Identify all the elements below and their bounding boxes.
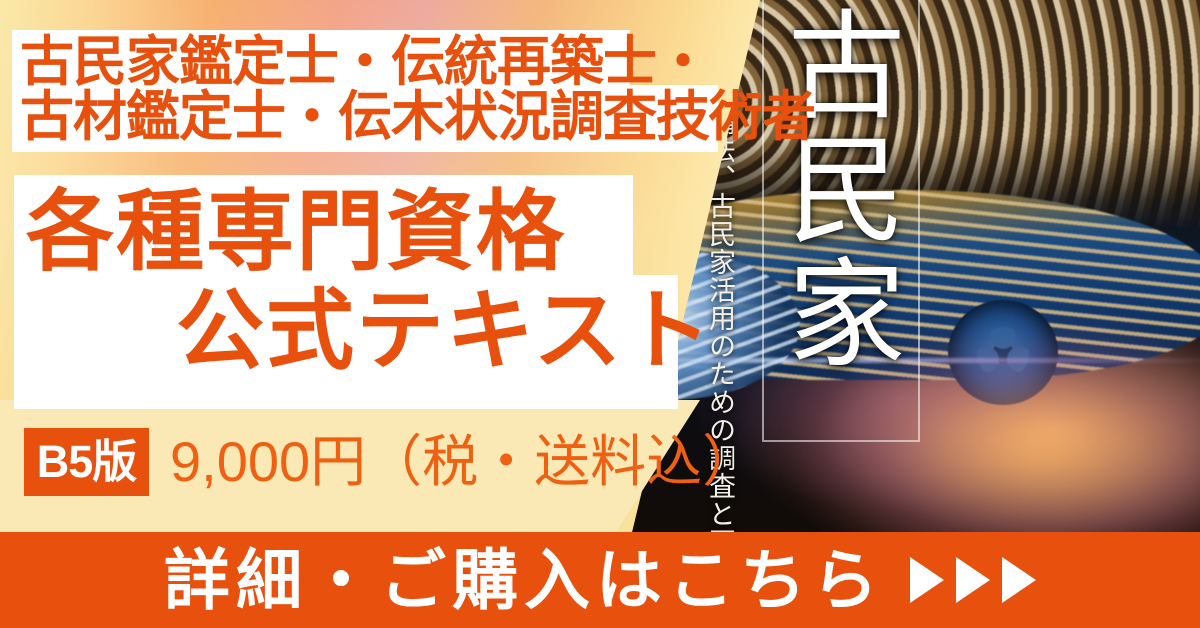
cover-title-vertical: 古民家 [775, 4, 903, 376]
headline-line-2: 公式テキスト [176, 281, 713, 381]
cta-arrow-group [910, 557, 1036, 603]
chevron-right-icon [910, 557, 944, 603]
qualification-line-2: 古材鑑定士・伝木状況調査技術者 [20, 88, 815, 146]
qualification-line-1: 古民家鑑定士・伝統再築士・ [20, 33, 709, 91]
headline-line-1: 各種専門資格 [26, 182, 566, 282]
cta-bar[interactable]: 詳細・ご購入はこちら [0, 532, 1200, 628]
chevron-right-icon [956, 557, 990, 603]
promo-banner: 古民家 伝統構法、古民家活用のための調査と再生の 古民家鑑定士・伝統再築士・ 古… [0, 0, 1200, 628]
format-badge: B5版 [24, 428, 149, 496]
chevron-right-icon [1002, 557, 1036, 603]
cta-label: 詳細・ご購入はこちら [164, 532, 884, 628]
price-text: 9,000円（税・送料込） [170, 430, 758, 494]
